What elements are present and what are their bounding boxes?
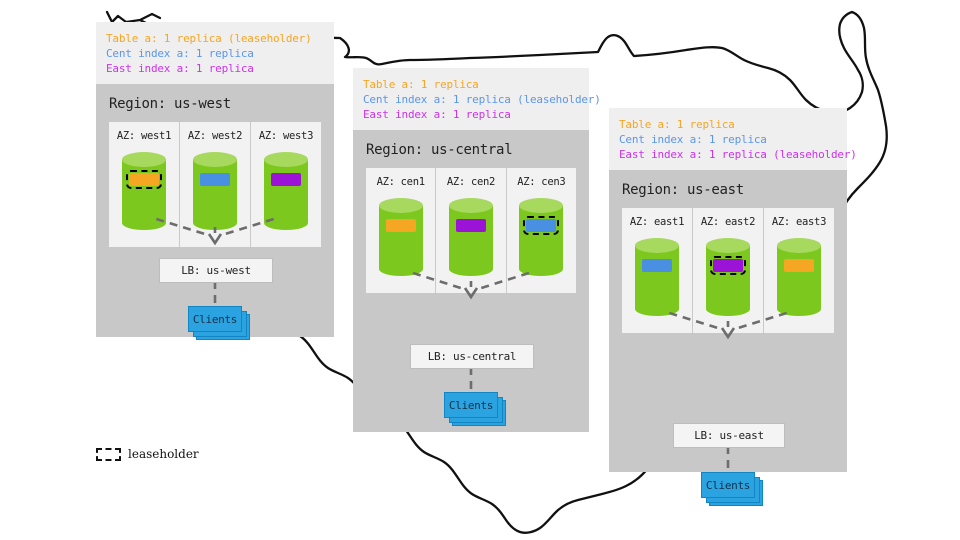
- replica-chip: [386, 219, 416, 232]
- load-balancer-box-us-central[interactable]: LB: us-central: [410, 344, 534, 369]
- az-container-us-west: AZ: west1AZ: west2AZ: west3: [109, 122, 321, 247]
- az-label: AZ: west3: [251, 130, 321, 142]
- cylinder-top: [519, 198, 563, 213]
- replica-legend-line: East index a: 1 replica (leaseholder): [619, 147, 837, 162]
- az-column[interactable]: AZ: west2: [179, 122, 250, 247]
- az-column[interactable]: AZ: east3: [763, 208, 834, 333]
- load-balancer-box-us-west[interactable]: LB: us-west: [159, 258, 273, 283]
- az-label: AZ: west1: [109, 130, 179, 142]
- replica-legend-line: Cent index a: 1 replica (leaseholder): [363, 92, 579, 107]
- cylinder-body: [449, 205, 493, 269]
- clients-node-us-west[interactable]: Clients: [188, 306, 251, 341]
- database-cylinder-icon[interactable]: [519, 198, 563, 276]
- cylinder-top: [379, 198, 423, 213]
- replica-chip-leaseholder: [526, 219, 556, 232]
- cylinder-body: [635, 245, 679, 309]
- replica-chip: [642, 259, 672, 272]
- replica-legend-line: Cent index a: 1 replica: [106, 46, 324, 61]
- cylinder-top: [777, 238, 821, 253]
- replica-chip: [200, 173, 230, 186]
- leaseholder-swatch-icon: [96, 448, 121, 461]
- database-cylinder-icon[interactable]: [635, 238, 679, 316]
- az-column[interactable]: AZ: west1: [109, 122, 179, 247]
- az-column[interactable]: AZ: east2: [692, 208, 763, 333]
- database-cylinder-icon[interactable]: [193, 152, 237, 230]
- cylinder-top: [193, 152, 237, 167]
- replica-legend-line: East index a: 1 replica: [363, 107, 579, 122]
- clients-node-us-central[interactable]: Clients: [444, 392, 507, 427]
- database-cylinder-icon[interactable]: [777, 238, 821, 316]
- cylinder-body: [706, 245, 750, 309]
- az-label: AZ: west2: [180, 130, 250, 142]
- replica-legend-us-central: Table a: 1 replicaCent index a: 1 replic…: [353, 68, 589, 130]
- cylinder-top: [635, 238, 679, 253]
- cylinder-body: [379, 205, 423, 269]
- region-box-us-west: Region: us-westAZ: west1AZ: west2AZ: wes…: [96, 84, 334, 337]
- az-column[interactable]: AZ: cen1: [366, 168, 435, 293]
- clients-label: Clients: [701, 472, 755, 498]
- cylinder-top: [122, 152, 166, 167]
- az-container-us-east: AZ: east1AZ: east2AZ: east3: [622, 208, 834, 333]
- region-title: Region: us-west: [96, 84, 334, 122]
- clients-label: Clients: [444, 392, 498, 418]
- replica-legend-line: Table a: 1 replica (leaseholder): [106, 31, 324, 46]
- az-column[interactable]: AZ: cen2: [435, 168, 505, 293]
- replica-legend-line: Table a: 1 replica: [363, 77, 579, 92]
- region-box-us-central: Region: us-centralAZ: cen1AZ: cen2AZ: ce…: [353, 130, 589, 432]
- cylinder-body: [264, 159, 308, 223]
- az-container-us-central: AZ: cen1AZ: cen2AZ: cen3: [366, 168, 576, 293]
- load-balancer-box-us-east[interactable]: LB: us-east: [673, 423, 785, 448]
- az-label: AZ: east2: [693, 216, 763, 228]
- az-column[interactable]: AZ: cen3: [506, 168, 576, 293]
- replica-chip-leaseholder: [713, 259, 743, 272]
- cylinder-top: [264, 152, 308, 167]
- az-label: AZ: cen3: [507, 176, 576, 188]
- region-title: Region: us-central: [353, 130, 589, 168]
- leaseholder-legend-label: leaseholder: [128, 447, 199, 461]
- database-cylinder-icon[interactable]: [122, 152, 166, 230]
- cylinder-top: [706, 238, 750, 253]
- database-cylinder-icon[interactable]: [379, 198, 423, 276]
- database-cylinder-icon[interactable]: [264, 152, 308, 230]
- replica-chip: [271, 173, 301, 186]
- region-panel-us-east: Table a: 1 replicaCent index a: 1 replic…: [609, 108, 847, 472]
- az-column[interactable]: AZ: east1: [622, 208, 692, 333]
- database-cylinder-icon[interactable]: [449, 198, 493, 276]
- leaseholder-legend: leaseholder: [96, 447, 199, 461]
- replica-chip: [456, 219, 486, 232]
- database-cylinder-icon[interactable]: [706, 238, 750, 316]
- cylinder-body: [193, 159, 237, 223]
- cylinder-body: [519, 205, 563, 269]
- clients-label: Clients: [188, 306, 242, 332]
- clients-node-us-east[interactable]: Clients: [701, 472, 764, 507]
- replica-legend-line: East index a: 1 replica: [106, 61, 324, 76]
- az-label: AZ: east3: [764, 216, 834, 228]
- replica-legend-line: Table a: 1 replica: [619, 117, 837, 132]
- cylinder-body: [122, 159, 166, 223]
- replica-legend-us-east: Table a: 1 replicaCent index a: 1 replic…: [609, 108, 847, 170]
- region-panel-us-central: Table a: 1 replicaCent index a: 1 replic…: [353, 68, 589, 432]
- region-title: Region: us-east: [609, 170, 847, 208]
- replica-chip-leaseholder: [129, 173, 159, 186]
- az-label: AZ: cen1: [366, 176, 435, 188]
- replica-chip: [784, 259, 814, 272]
- region-panel-us-west: Table a: 1 replica (leaseholder)Cent ind…: [96, 22, 334, 337]
- az-label: AZ: east1: [622, 216, 692, 228]
- az-label: AZ: cen2: [436, 176, 505, 188]
- cylinder-body: [777, 245, 821, 309]
- cylinder-top: [449, 198, 493, 213]
- replica-legend-line: Cent index a: 1 replica: [619, 132, 837, 147]
- az-column[interactable]: AZ: west3: [250, 122, 321, 247]
- replica-legend-us-west: Table a: 1 replica (leaseholder)Cent ind…: [96, 22, 334, 84]
- region-box-us-east: Region: us-eastAZ: east1AZ: east2AZ: eas…: [609, 170, 847, 472]
